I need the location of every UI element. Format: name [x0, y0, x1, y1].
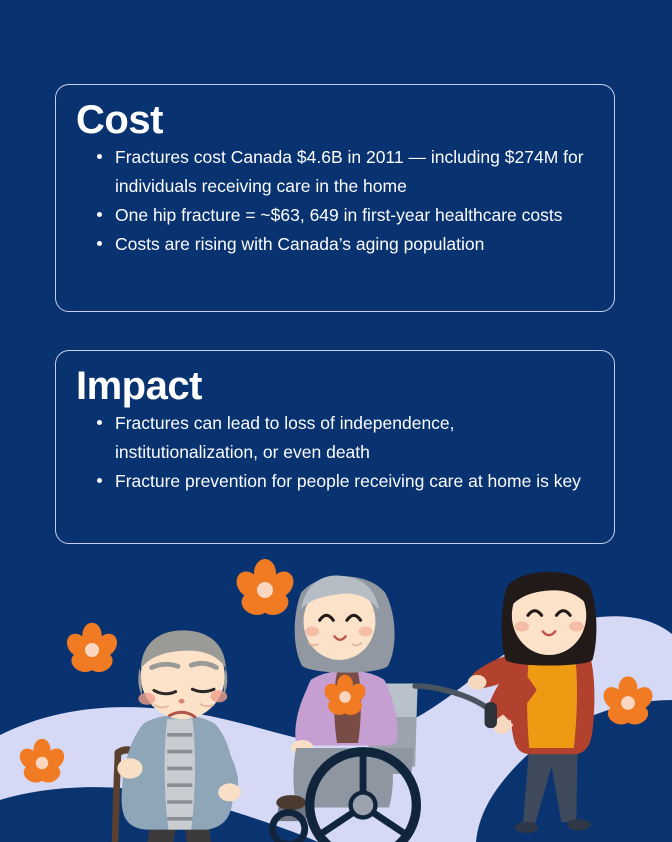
cost-bullet-1-text: Fractures cost Canada $4.6B in 2011 — in…	[115, 147, 584, 195]
cost-bullet-1: Fractures cost Canada $4.6B in 2011 — in…	[70, 143, 596, 200]
bullet-dot-icon	[97, 154, 102, 159]
bullet-dot-icon	[97, 212, 102, 217]
impact-bullet-2: Fracture prevention for people receiving…	[70, 467, 596, 495]
cost-bullet-3: Costs are rising with Canada’s aging pop…	[70, 230, 596, 258]
cost-bullet-list: Fractures cost Canada $4.6B in 2011 — in…	[70, 143, 596, 258]
cost-bullet-3-text: Costs are rising with Canada’s aging pop…	[115, 234, 484, 254]
impact-bullet-1: Fractures can lead to loss of independen…	[70, 409, 596, 466]
bullet-dot-icon	[97, 420, 102, 425]
cost-bullet-2-text: One hip fracture = ~$63, 649 in first-ye…	[115, 205, 562, 225]
cost-card-title: Cost	[76, 99, 596, 141]
impact-card: Impact Fractures can lead to loss of ind…	[55, 350, 615, 544]
impact-bullet-2-text: Fracture prevention for people receiving…	[115, 471, 581, 491]
bullet-dot-icon	[97, 241, 102, 246]
impact-card-title: Impact	[76, 365, 596, 407]
impact-bullet-list: Fractures can lead to loss of independen…	[70, 409, 596, 495]
impact-bullet-1-text: Fractures can lead to loss of independen…	[115, 413, 455, 461]
cost-bullet-2: One hip fracture = ~$63, 649 in first-ye…	[70, 201, 596, 229]
bullet-dot-icon	[97, 478, 102, 483]
cost-card: Cost Fractures cost Canada $4.6B in 2011…	[55, 84, 615, 312]
